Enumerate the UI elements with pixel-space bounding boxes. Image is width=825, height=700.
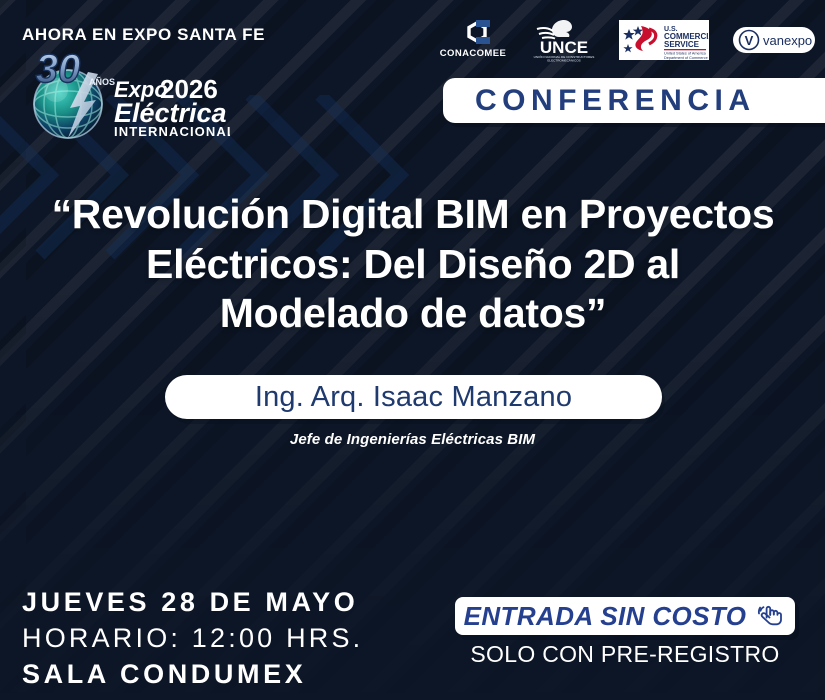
event-time: HORARIO: 12:00 HRS.	[22, 621, 363, 657]
page-title: “Revolución Digital BIM en Proyectos Elé…	[48, 190, 778, 339]
cta-label: ENTRADA SIN COSTO	[464, 601, 747, 632]
expo-electrica-logo: 30 AÑOS Expo 2026 Eléctrica INTERNACIONA…	[18, 48, 230, 146]
unce-logo: UNCE UNIÓN NACIONAL DE CONSTRUCTORES ELE…	[533, 17, 595, 63]
svg-text:AÑOS: AÑOS	[89, 77, 115, 87]
svg-text:INTERNACIONAL®: INTERNACIONAL®	[114, 124, 230, 139]
svg-text:United States of America: United States of America	[664, 52, 707, 56]
speaker-name-pill: Ing. Arq. Isaac Manzano	[165, 375, 662, 419]
title-line-1: “Revolución Digital BIM en Proyectos	[48, 190, 778, 240]
svg-text:CONACOMEE: CONACOMEE	[440, 48, 506, 59]
vanexpo-logo: V vanexpo	[732, 23, 816, 57]
event-details: JUEVES 28 DE MAYO HORARIO: 12:00 HRS. SA…	[22, 585, 363, 693]
conferencia-banner: CONFERENCIA	[443, 78, 825, 123]
event-date: JUEVES 28 DE MAYO	[22, 585, 363, 621]
title-line-2: Eléctricos: Del Diseño 2D al	[48, 240, 778, 290]
conference-poster: AHORA EN EXPO SANTA FE	[0, 0, 825, 700]
kicker-text: AHORA EN EXPO SANTA FE	[22, 25, 265, 45]
conacomee-logo: CONACOMEE	[436, 18, 510, 62]
svg-text:SERVICE: SERVICE	[664, 40, 700, 49]
event-room: SALA CONDUMEX	[22, 657, 363, 693]
entrada-sin-costo-button[interactable]: ENTRADA SIN COSTO	[455, 597, 795, 635]
partner-logos: CONACOMEE UNCE UNIÓN NACIONAL DE CONSTRU…	[436, 14, 816, 66]
cta-note: SOLO CON PRE-REGISTRO	[455, 641, 795, 668]
speaker-role: Jefe de Ingenierías Eléctricas BIM	[0, 431, 825, 448]
us-commercial-service-logo: U.S. COMMERCIAL SERVICE United States of…	[619, 20, 709, 60]
speaker-name: Ing. Arq. Isaac Manzano	[255, 381, 572, 414]
title-line-3: Modelado de datos”	[48, 289, 778, 339]
svg-text:Department of Commerce: Department of Commerce	[664, 56, 708, 60]
svg-text:30: 30	[36, 48, 81, 91]
conferencia-label: CONFERENCIA	[475, 84, 756, 118]
svg-text:vanexpo: vanexpo	[763, 33, 812, 48]
tap-hand-icon	[756, 603, 786, 629]
svg-text:ELECTROMECÁNICOS: ELECTROMECÁNICOS	[548, 59, 581, 63]
svg-text:V: V	[745, 33, 754, 48]
